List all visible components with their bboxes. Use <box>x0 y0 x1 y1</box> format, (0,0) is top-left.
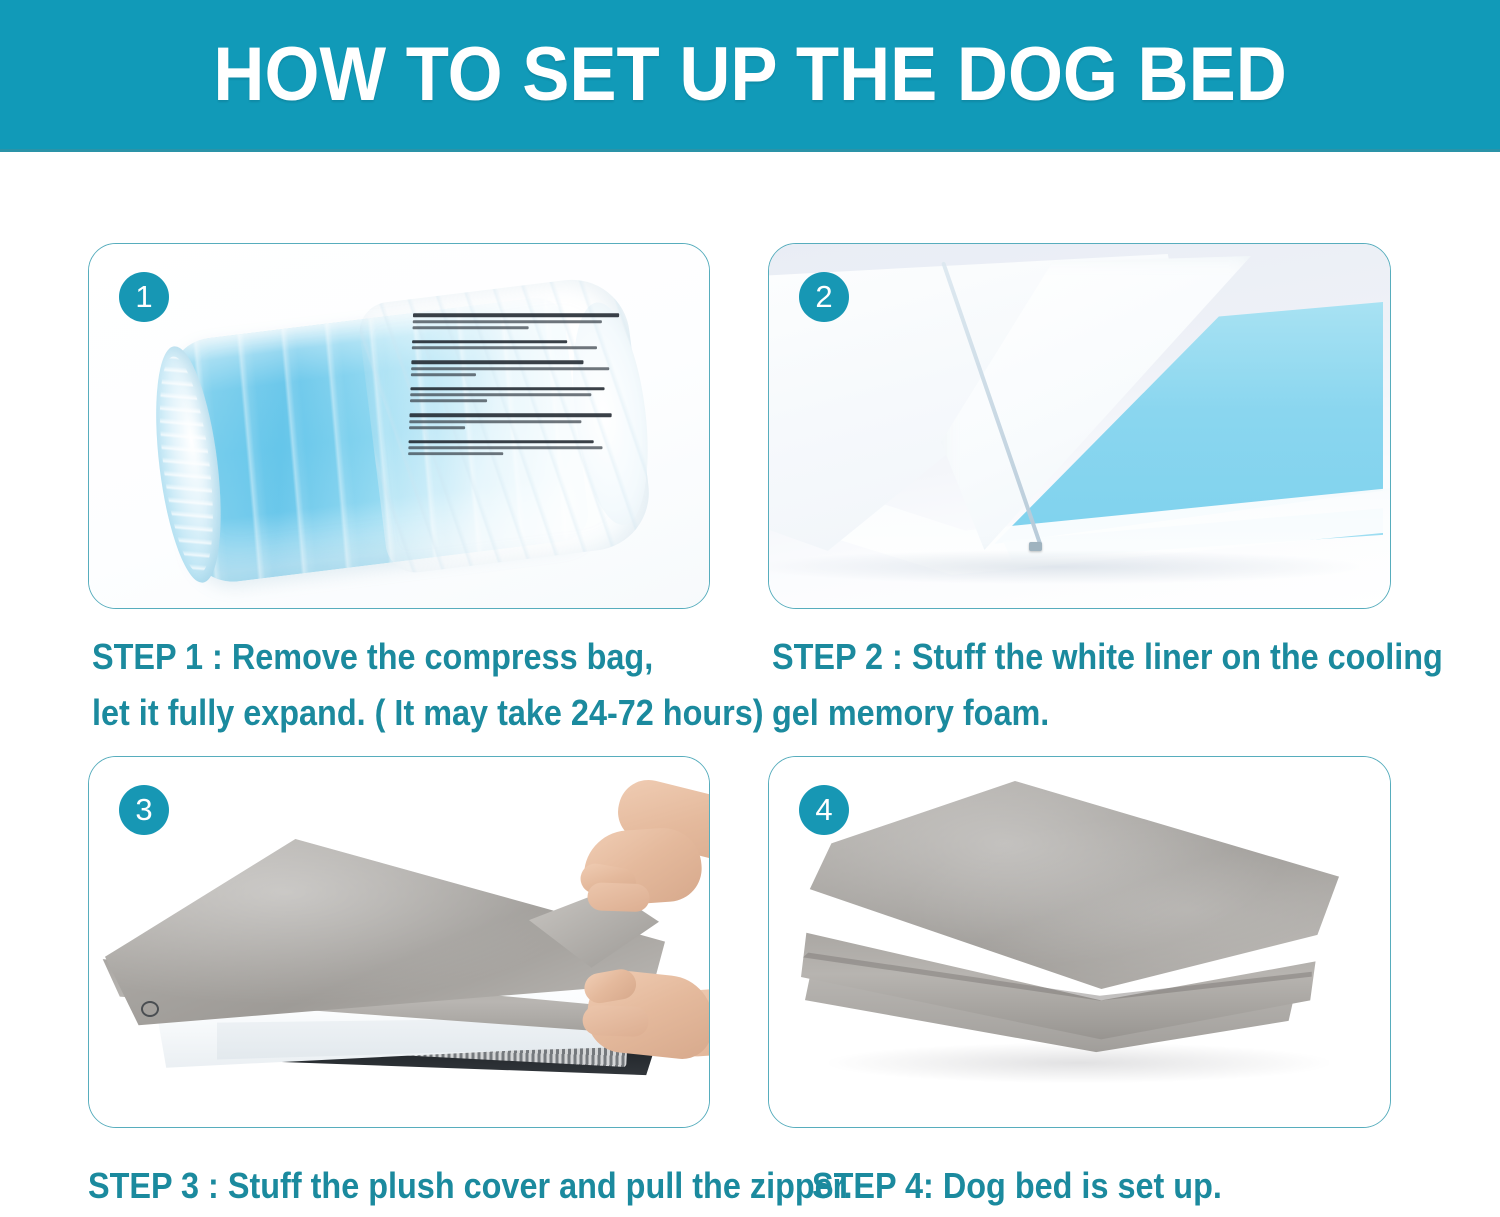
step-4-illustration <box>769 757 1390 1127</box>
fingers <box>587 882 650 912</box>
step-badge-3: 3 <box>119 785 169 835</box>
step-3-caption-line-1: STEP 3 : Stuff the plush cover and pull … <box>88 1158 853 1214</box>
step-2-caption-line-1: STEP 2 : Stuff the white liner on the co… <box>772 629 1443 685</box>
step-1-caption-line-2: let it fully expand. ( It may take 24-72… <box>92 685 764 741</box>
step-2-illustration <box>769 244 1390 608</box>
bed-assembly-in-progress <box>97 805 710 1095</box>
step-panel-4: 4 <box>768 756 1391 1128</box>
step-1-caption: STEP 1 : Remove the compress bag, let it… <box>92 629 764 741</box>
pad-shadow <box>768 550 1359 584</box>
gel-foam-with-liner <box>768 254 1391 584</box>
step-2-caption-line-2: gel memory foam. <box>772 685 1443 741</box>
step-badge-4: 4 <box>799 785 849 835</box>
step-badge-2: 2 <box>799 272 849 322</box>
finished-dog-bed <box>789 775 1369 1075</box>
step-panel-1: 1 <box>88 243 710 609</box>
hand-lower <box>567 950 710 1092</box>
zipper-pull-icon <box>141 1001 159 1017</box>
step-2-caption: STEP 2 : Stuff the white liner on the co… <box>772 629 1443 741</box>
step-4-caption: STEP 4: Dog bed is set up. <box>812 1158 1222 1214</box>
step-panel-2: 2 <box>768 243 1391 609</box>
step-3-illustration <box>89 757 709 1127</box>
header-banner: HOW TO SET UP THE DOG BED <box>0 0 1500 152</box>
step-badge-1: 1 <box>119 272 169 322</box>
step-1-illustration <box>89 244 709 608</box>
step-panel-3: 3 <box>88 756 710 1128</box>
fingers <box>582 1005 649 1037</box>
page-title: HOW TO SET UP THE DOG BED <box>213 37 1286 113</box>
step-3-caption: STEP 3 : Stuff the plush cover and pull … <box>88 1158 853 1214</box>
hand-upper <box>545 790 710 930</box>
step-4-caption-line-1: STEP 4: Dog bed is set up. <box>812 1158 1222 1214</box>
compressed-foam-roll <box>162 264 662 597</box>
bag-warning-label <box>405 313 628 539</box>
step-1-caption-line-1: STEP 1 : Remove the compress bag, <box>92 629 764 685</box>
